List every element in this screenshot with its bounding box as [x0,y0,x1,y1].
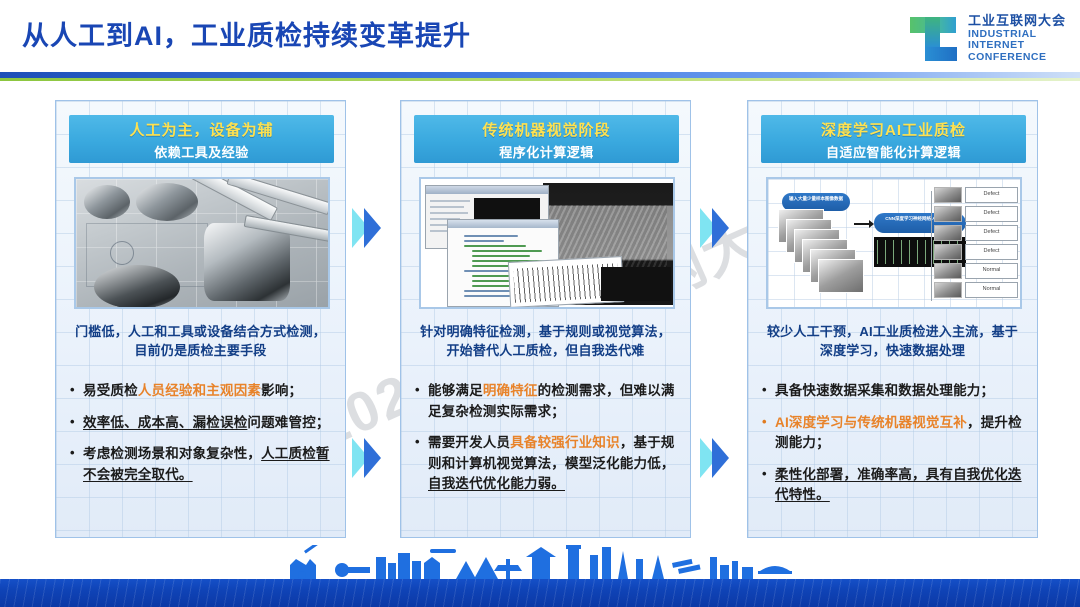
chevron-right-icon [352,208,386,248]
stage-card-1: 人工为主，设备为辅 依赖工具及经验 门槛低，人工和工具或设备结合方式检测，目前仍… [55,100,346,538]
card-2-figure [419,177,675,309]
card-1-caption: 门槛低，人工和工具或设备结合方式检测，目前仍是质检主要手段 [70,323,331,361]
stage-card-2: 传统机器视觉阶段 程序化计算逻辑 [400,100,691,538]
output-label: Defect [965,206,1018,222]
diagram-arrow-icon [854,223,870,225]
header-divider [0,72,1080,82]
chevron-right-icon [700,208,734,248]
stage-card-3: 深度学习AI工业质检 自适应智能化计算逻辑 输入大量少量样本图像数据 CNN深度… [747,100,1038,538]
list-item: 易受质检人员经验和主观因素影响； [68,381,335,402]
card-2-bullets: 能够满足明确特征的检测需求，但难以满足复杂检测实际需求； 需要开发人员具备较强行… [413,381,680,506]
list-item: 考虑检测场景和对象复杂性，人工质检暂不会被完全取代。 [68,444,335,485]
page-title: 从人工到AI，工业质检持续变革提升 [22,14,471,53]
card-2-header-subtitle: 程序化计算逻辑 [414,142,679,161]
footer-skyline [0,543,1080,607]
diagram-connector [931,191,932,301]
card-3-header: 深度学习AI工业质检 自适应智能化计算逻辑 [761,115,1026,163]
logo-text-cn: 工业互联网大会 [968,14,1066,29]
stage-cards: 人工为主，设备为辅 依赖工具及经验 门槛低，人工和工具或设备结合方式检测，目前仍… [0,100,1080,540]
deep-learning-diagram: 输入大量少量样本图像数据 CNN深度学习神经网络 AI模型训练 Defect D… [768,179,1020,307]
list-item: 能够满足明确特征的检测需求，但难以满足复杂检测实际需求； [413,381,680,422]
card-1-header-subtitle: 依赖工具及经验 [69,142,334,161]
card-2-caption: 针对明确特征检测，基于规则或视觉算法，开始替代人工质检，但自我迭代难 [415,323,676,361]
output-label: Normal [965,282,1018,298]
conference-logo: 工业互联网大会 INDUSTRIAL INTERNET CONFERENCE [908,14,1066,64]
card-1-figure [74,177,330,309]
footer-water [0,579,1080,607]
list-item: 具备快速数据采集和数据处理能力； [760,381,1027,402]
output-label: Defect [965,244,1018,260]
logo-text-en-3: CONFERENCE [968,52,1066,64]
machine-vision-software-image [421,179,673,307]
chevron-right-icon [352,438,386,478]
card-2-header: 传统机器视觉阶段 程序化计算逻辑 [414,115,679,163]
card-3-bullets: 具备快速数据采集和数据处理能力； AI深度学习与传统机器视觉互补，提升检测能力；… [760,381,1027,517]
industrial-skyline-icon [280,545,800,579]
list-item: 柔性化部署，准确率高，具有自我优化迭代特性。 [760,465,1027,506]
letter-i-logo-icon [908,15,960,63]
list-item: 需要开发人员具备较强行业知识，基于规则和计算机视觉算法，模型泛化能力低，自我迭代… [413,433,680,495]
output-label: Normal [965,263,1018,279]
card-1-header-title: 人工为主，设备为辅 [69,119,334,140]
output-label: Defect [965,187,1018,203]
calipers-photo [76,179,328,307]
card-1-bullets: 易受质检人员经验和主观因素影响； 效率低、成本高、漏检误检问题难管控； 考虑检测… [68,381,335,496]
list-item: 效率低、成本高、漏检误检问题难管控； [68,413,335,434]
slide-root: 从人工到AI，工业质检持续变革提升 工业互联网大会 INDUSTRIAL INT… [0,0,1080,607]
list-item: AI深度学习与传统机器视觉互补，提升检测能力； [760,413,1027,454]
card-3-figure: 输入大量少量样本图像数据 CNN深度学习神经网络 AI模型训练 Defect D… [766,177,1022,309]
card-1-header: 人工为主，设备为辅 依赖工具及经验 [69,115,334,163]
output-label: Defect [965,225,1018,241]
chevron-right-icon [700,438,734,478]
divider-green-band [0,78,1080,81]
diagram-outputs: Defect Defect Defect Defect Normal Norma… [934,187,1018,301]
card-3-header-title: 深度学习AI工业质检 [761,119,1026,140]
logo-text: 工业互联网大会 INDUSTRIAL INTERNET CONFERENCE [968,14,1066,64]
card-3-caption: 较少人工干预，AI工业质检进入主流，基于深度学习，快速数据处理 [762,323,1023,361]
card-3-header-subtitle: 自适应智能化计算逻辑 [761,142,1026,161]
card-2-header-title: 传统机器视觉阶段 [414,119,679,140]
